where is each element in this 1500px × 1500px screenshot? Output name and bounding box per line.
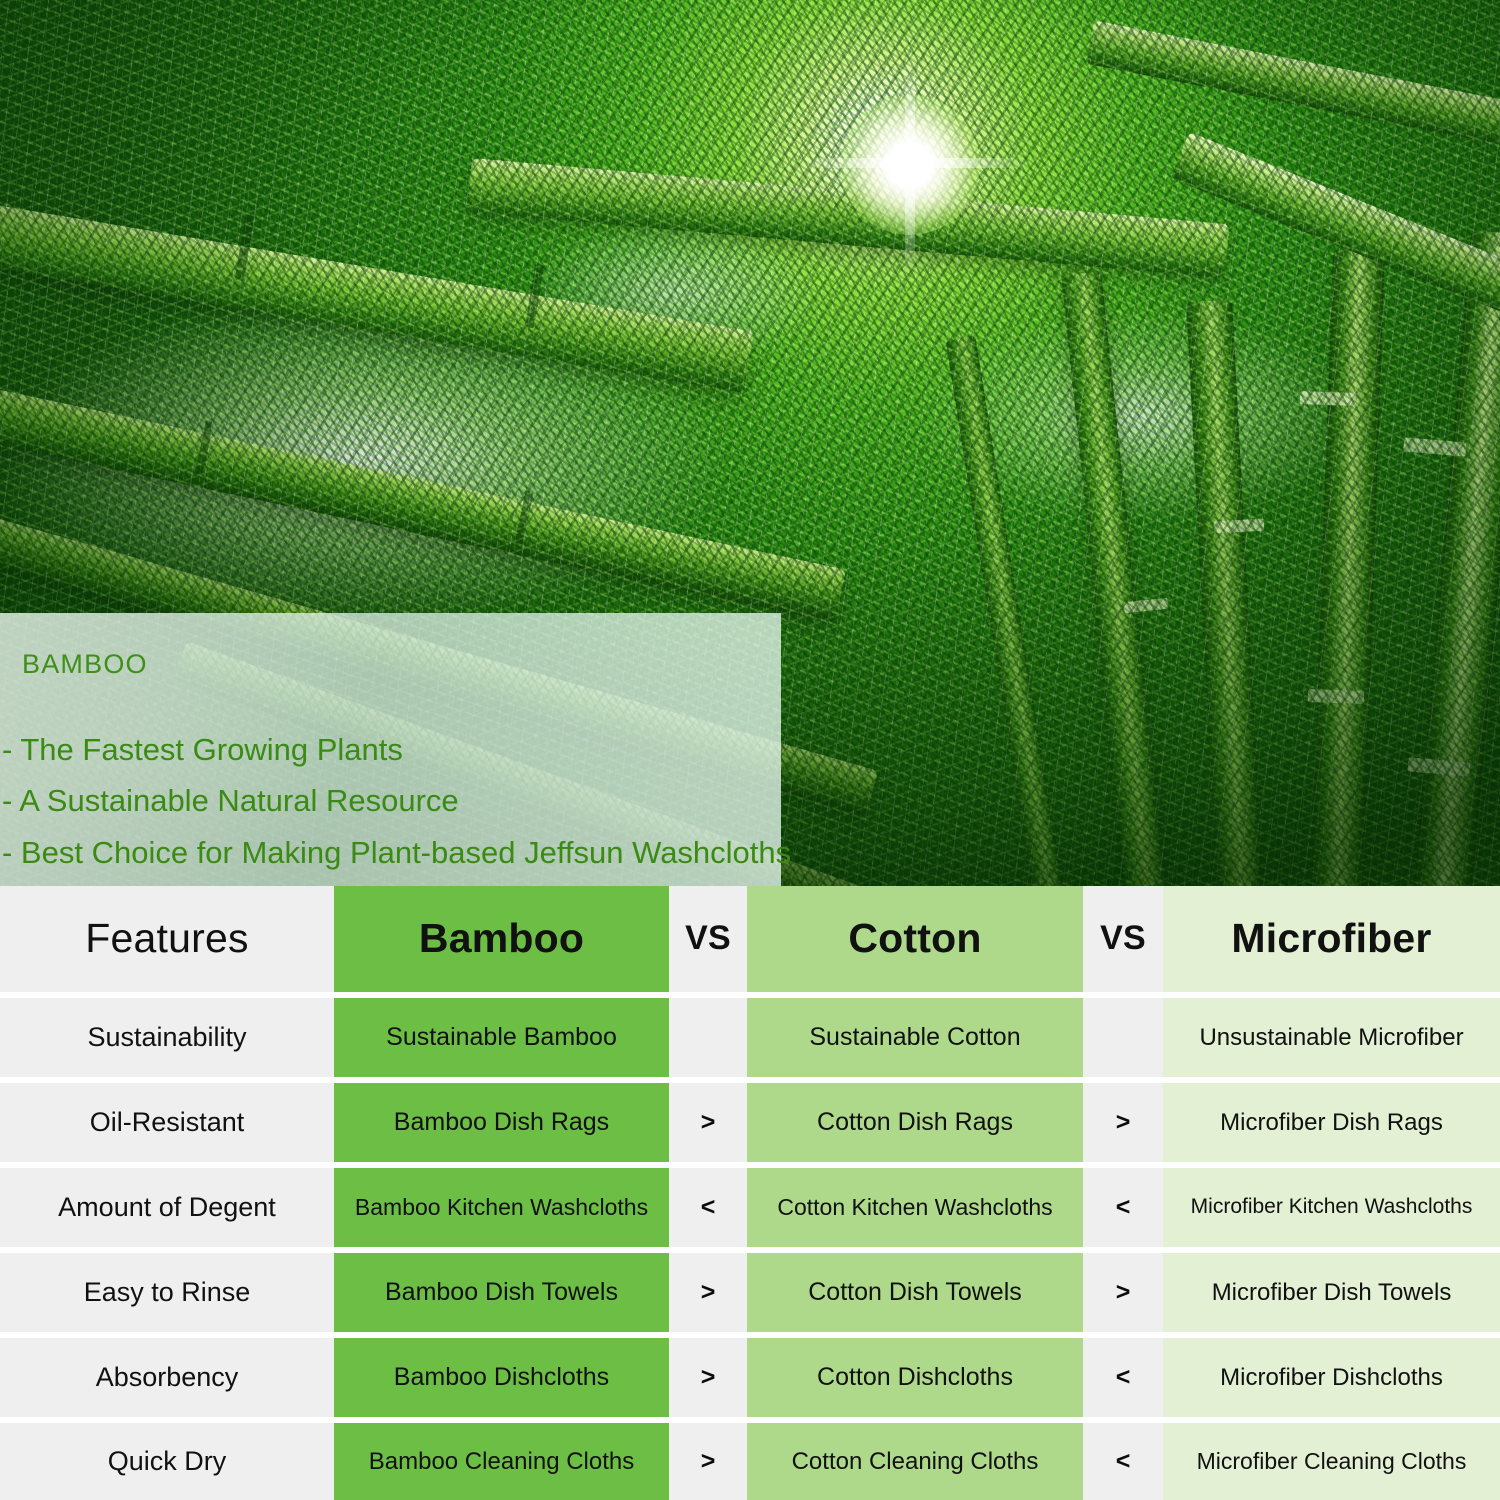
row-feature-label: Oil-Resistant — [0, 1083, 334, 1162]
product-infographic: BAMBOO - The Fastest Growing Plants - A … — [0, 0, 1500, 1500]
row-operator-1: > — [669, 1338, 747, 1417]
row-operator-2: < — [1083, 1338, 1163, 1417]
row-operator-2: > — [1083, 1253, 1163, 1332]
row-operator-2: < — [1083, 1423, 1163, 1500]
table-row: Easy to Rinse Bamboo Dish Towels > Cotto… — [0, 1253, 1500, 1332]
row-bamboo-value: Bamboo Dish Towels — [334, 1253, 669, 1332]
header-cell-vs-1: VS — [669, 886, 747, 992]
comparison-table: Features Bamboo VS Cotton VS Microfiber … — [0, 886, 1500, 1500]
table-row: Oil-Resistant Bamboo Dish Rags > Cotton … — [0, 1083, 1500, 1162]
row-microfiber-value: Microfiber Dish Towels — [1163, 1253, 1500, 1332]
header-cell-vs-2: VS — [1083, 886, 1163, 992]
row-operator-1 — [669, 998, 747, 1077]
row-cotton-value: Sustainable Cotton — [747, 998, 1083, 1077]
row-cotton-value: Cotton Dish Rags — [747, 1083, 1083, 1162]
row-feature-label: Easy to Rinse — [0, 1253, 334, 1332]
row-feature-label: Sustainability — [0, 998, 334, 1077]
header-cell-microfiber: Microfiber — [1163, 886, 1500, 992]
row-bamboo-value: Bamboo Cleaning Cloths — [334, 1423, 669, 1500]
overlay-bullet-2: - A Sustainable Natural Resource — [2, 783, 459, 819]
row-feature-label: Amount of Degent — [0, 1168, 334, 1247]
sun-flare-ray — [800, 158, 1030, 168]
row-bamboo-value: Bamboo Kitchen Washcloths — [334, 1168, 669, 1247]
row-operator-2: < — [1083, 1168, 1163, 1247]
row-microfiber-value: Unsustainable Microfiber — [1163, 998, 1500, 1077]
row-operator-1: > — [669, 1083, 747, 1162]
row-feature-label: Absorbency — [0, 1338, 334, 1417]
row-operator-2: > — [1083, 1083, 1163, 1162]
overlay-title: BAMBOO — [22, 649, 148, 680]
row-bamboo-value: Bamboo Dishcloths — [334, 1338, 669, 1417]
row-feature-label: Quick Dry — [0, 1423, 334, 1500]
header-cell-cotton: Cotton — [747, 886, 1083, 992]
row-cotton-value: Cotton Cleaning Cloths — [747, 1423, 1083, 1500]
overlay-bullet-1: - The Fastest Growing Plants — [2, 732, 403, 768]
row-microfiber-value: Microfiber Dish Rags — [1163, 1083, 1500, 1162]
row-operator-1: < — [669, 1168, 747, 1247]
row-operator-2 — [1083, 998, 1163, 1077]
header-cell-bamboo: Bamboo — [334, 886, 669, 992]
row-bamboo-value: Bamboo Dish Rags — [334, 1083, 669, 1162]
table-row: Amount of Degent Bamboo Kitchen Washclot… — [0, 1168, 1500, 1247]
row-cotton-value: Cotton Dishcloths — [747, 1338, 1083, 1417]
table-header-row: Features Bamboo VS Cotton VS Microfiber — [0, 886, 1500, 992]
row-bamboo-value: Sustainable Bamboo — [334, 998, 669, 1077]
row-operator-1: > — [669, 1423, 747, 1500]
table-row: Absorbency Bamboo Dishcloths > Cotton Di… — [0, 1338, 1500, 1417]
row-microfiber-value: Microfiber Cleaning Cloths — [1163, 1423, 1500, 1500]
table-row: Quick Dry Bamboo Cleaning Cloths > Cotto… — [0, 1423, 1500, 1500]
row-cotton-value: Cotton Dish Towels — [747, 1253, 1083, 1332]
row-operator-1: > — [669, 1253, 747, 1332]
bamboo-benefits-overlay-panel: BAMBOO - The Fastest Growing Plants - A … — [0, 613, 781, 886]
row-microfiber-value: Microfiber Kitchen Washcloths — [1163, 1168, 1500, 1247]
header-cell-features: Features — [0, 886, 334, 992]
table-row: Sustainability Sustainable Bamboo Sustai… — [0, 998, 1500, 1077]
sun-flare-ray — [905, 55, 915, 275]
overlay-bullet-3: - Best Choice for Making Plant-based Jef… — [2, 835, 791, 871]
row-cotton-value: Cotton Kitchen Washcloths — [747, 1168, 1083, 1247]
row-microfiber-value: Microfiber Dishcloths — [1163, 1338, 1500, 1417]
